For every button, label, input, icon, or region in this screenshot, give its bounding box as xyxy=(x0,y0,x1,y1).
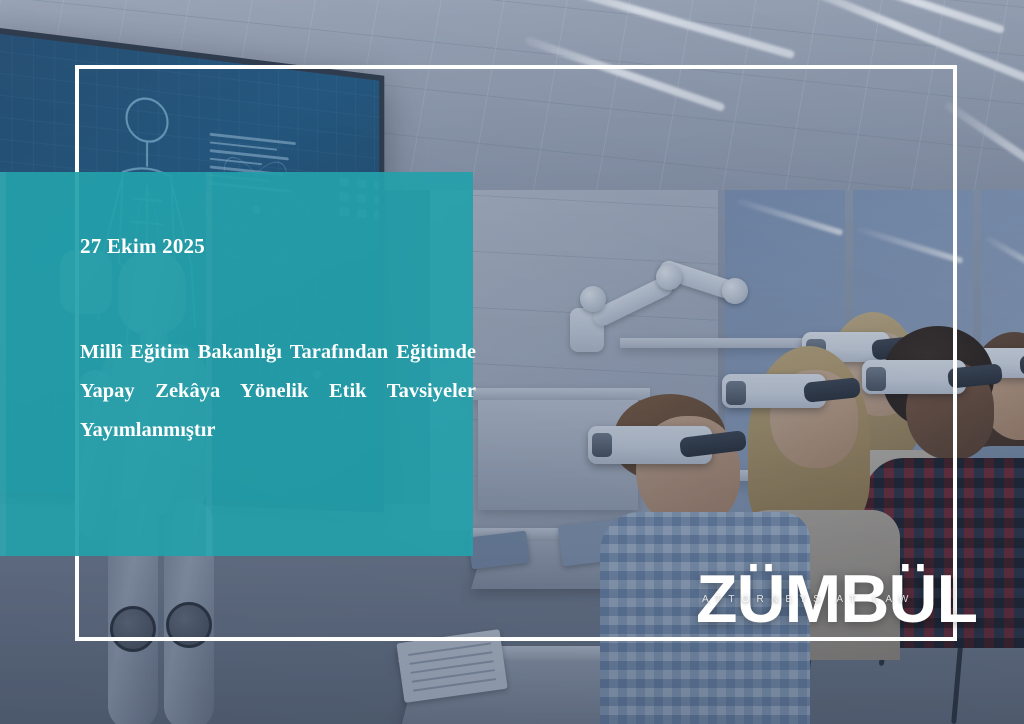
publication-date: 27 Ekim 2025 xyxy=(80,234,469,259)
logo-tagline: ATTORNEYS AT LAW xyxy=(702,594,916,605)
teal-content-panel: 27 Ekim 2025 Millî Eğitim Bakanlığı Tara… xyxy=(0,172,473,556)
panel-content: 27 Ekim 2025 Millî Eğitim Bakanlığı Tara… xyxy=(80,234,469,489)
brand-logo[interactable]: ZÜMBÜL ATTORNEYS AT LAW xyxy=(696,564,936,636)
poster-canvas: 27 Ekim 2025 Millî Eğitim Bakanlığı Tara… xyxy=(0,0,1024,724)
page-title: Millî Eğitim Bakanlığı Tarafından Eğitim… xyxy=(80,333,476,489)
